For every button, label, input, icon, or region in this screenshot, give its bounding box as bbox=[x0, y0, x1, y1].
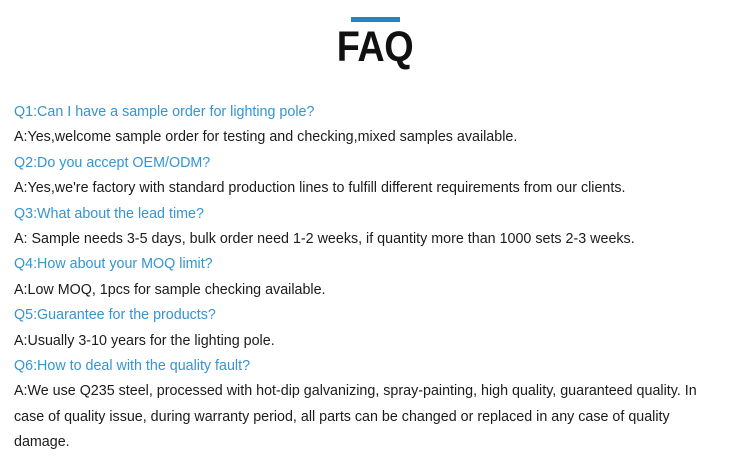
faq-answer: A:Yes,welcome sample order for testing a… bbox=[14, 125, 736, 150]
faq-question: Q5:Guarantee for the products? bbox=[14, 303, 736, 328]
faq-question: Q6:How to deal with the quality fault? bbox=[14, 354, 736, 379]
faq-answer: A:Low MOQ, 1pcs for sample checking avai… bbox=[14, 278, 736, 303]
page-title: FAQ bbox=[45, 22, 705, 70]
faq-item: Q2:Do you accept OEM/ODM? A:Yes,we're fa… bbox=[14, 151, 736, 202]
faq-answer: A: Sample needs 3-5 days, bulk order nee… bbox=[14, 227, 736, 252]
faq-answer: A:Usually 3-10 years for the lighting po… bbox=[14, 329, 736, 354]
faq-question: Q1:Can I have a sample order for lightin… bbox=[14, 100, 736, 125]
faq-question: Q2:Do you accept OEM/ODM? bbox=[14, 151, 736, 176]
faq-item: Q5:Guarantee for the products? A:Usually… bbox=[14, 303, 736, 354]
faq-list: Q1:Can I have a sample order for lightin… bbox=[14, 100, 736, 456]
faq-item: Q4:How about your MOQ limit? A:Low MOQ, … bbox=[14, 252, 736, 303]
faq-item: Q1:Can I have a sample order for lightin… bbox=[14, 100, 736, 151]
faq-item: Q6:How to deal with the quality fault? A… bbox=[14, 354, 736, 456]
faq-header: FAQ bbox=[0, 0, 750, 70]
faq-answer: A:Yes,we're factory with standard produc… bbox=[14, 176, 736, 201]
faq-question: Q3:What about the lead time? bbox=[14, 202, 736, 227]
faq-question: Q4:How about your MOQ limit? bbox=[14, 252, 736, 277]
faq-answer: A:We use Q235 steel, processed with hot-… bbox=[14, 379, 714, 455]
faq-page: FAQ Q1:Can I have a sample order for lig… bbox=[0, 0, 750, 473]
faq-item: Q3:What about the lead time? A: Sample n… bbox=[14, 202, 736, 253]
